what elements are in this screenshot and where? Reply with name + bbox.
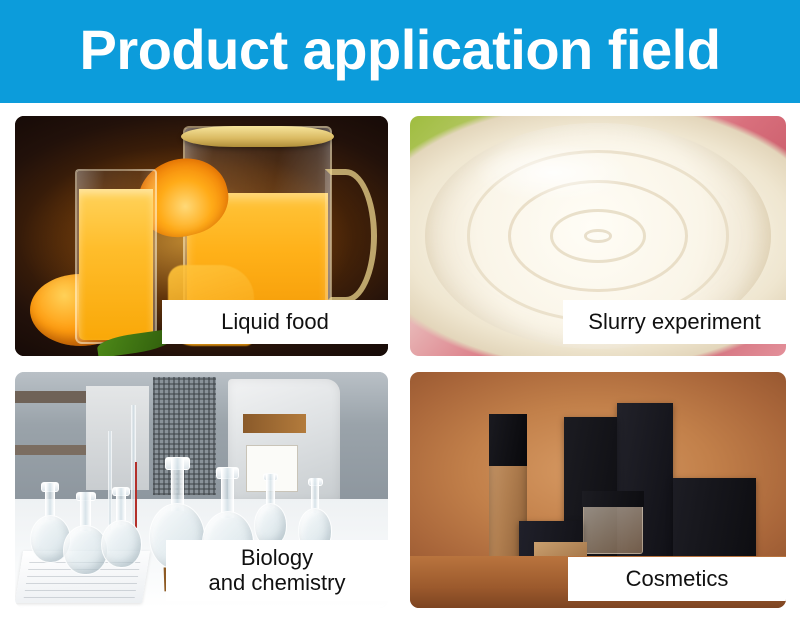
lab-shelf-lower [15, 445, 97, 454]
lab-instrument-trim [243, 414, 306, 433]
glass-juice-fill [79, 189, 153, 340]
pitcher-handle [325, 169, 377, 303]
application-card-liquid-food[interactable]: Liquid food [15, 116, 388, 356]
slurry-highlight [473, 143, 632, 202]
lab-cabinet [86, 386, 149, 490]
swirl-ring-4 [584, 229, 612, 243]
jar-lid [582, 491, 645, 507]
lab-flask-3 [101, 490, 142, 568]
page-title: Product application field [80, 22, 721, 82]
card-label-cosmetics: Cosmetics [568, 557, 786, 601]
card-label-biology-and-chemistry: Biology and chemistry [166, 540, 388, 601]
application-card-biology-and-chemistry[interactable]: Biology and chemistry [15, 372, 388, 608]
application-card-slurry-experiment[interactable]: Slurry experiment [410, 116, 786, 356]
cosmetics-box-wide [673, 478, 756, 563]
bottle-cap [489, 414, 527, 465]
lab-flask-6 [254, 476, 288, 547]
application-card-cosmetics[interactable]: Cosmetics [410, 372, 786, 608]
card-label-liquid-food: Liquid food [162, 300, 388, 344]
juice-glass-shape [75, 169, 157, 344]
pitcher-rim [181, 126, 335, 148]
cosmetics-jar [583, 502, 643, 554]
header-banner: Product application field [0, 0, 800, 103]
application-card-grid: Liquid food Slurry experiment [0, 103, 800, 622]
flask-bulb [101, 520, 142, 568]
card-label-slurry-experiment: Slurry experiment [563, 300, 786, 344]
